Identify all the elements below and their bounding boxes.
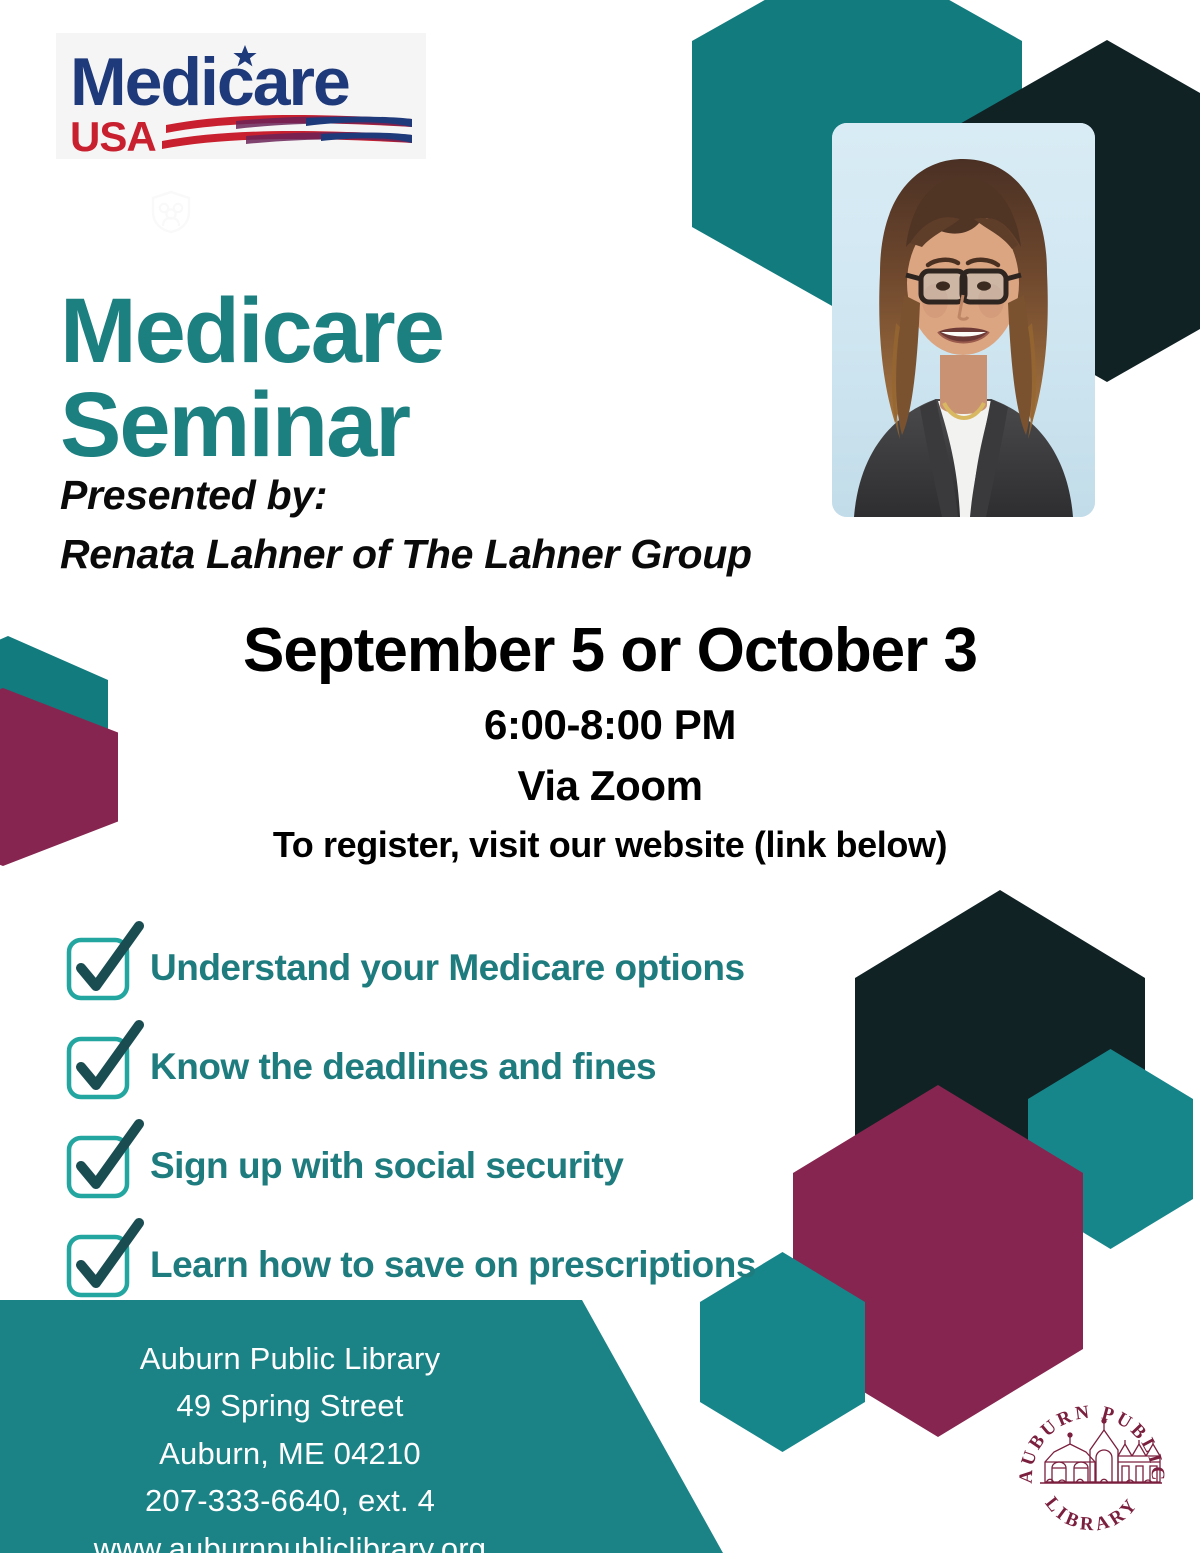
checklist-label: Understand your Medicare options <box>150 947 745 989</box>
page-title: Medicare Seminar <box>60 284 760 474</box>
checkbox-checked-icon <box>68 938 128 998</box>
event-time: 6:00-8:00 PM <box>130 701 1090 748</box>
library-phone: 207-333-6640, ext. 4 <box>0 1477 580 1524</box>
checkbox-checked-icon <box>68 1136 128 1196</box>
library-contact-info: Auburn Public Library 49 Spring Street A… <box>0 1335 580 1553</box>
list-item: Understand your Medicare options <box>68 918 828 1017</box>
medicare-usa-logo: Medicare USA <box>56 33 426 159</box>
checklist-label: Learn how to save on prescriptions <box>150 1244 756 1286</box>
event-platform: Via Zoom <box>130 762 1090 809</box>
list-item: Sign up with social security <box>68 1116 828 1215</box>
presenter-block: Presented by: Renata Lahner of The Lahne… <box>60 466 890 584</box>
title-line-1: Medicare <box>60 284 760 379</box>
seal-text-bottom: LIBRARY <box>1041 1493 1144 1535</box>
checklist-label: Know the deadlines and fines <box>150 1046 656 1088</box>
event-registration-note: To register, visit our website (link bel… <box>130 825 1090 865</box>
library-city-state-zip: Auburn, ME 04210 <box>0 1430 580 1477</box>
benefits-checklist: Understand your Medicare options Know th… <box>68 918 828 1314</box>
checkbox-checked-icon <box>68 1037 128 1097</box>
auburn-public-library-seal: AUBURN PUBLIC LIBRARY <box>1012 1390 1172 1550</box>
library-street: 49 Spring Street <box>0 1382 580 1429</box>
library-name: Auburn Public Library <box>0 1335 580 1382</box>
list-item: Know the deadlines and fines <box>68 1017 828 1116</box>
title-line-2: Seminar <box>60 378 760 473</box>
svg-text:USA: USA <box>70 113 156 159</box>
checklist-label: Sign up with social security <box>150 1145 623 1187</box>
medicare-seminar-poster: Medicare USA Medicare Seminar Presented … <box>0 0 1200 1553</box>
presented-by-label: Presented by: <box>60 466 890 525</box>
shield-people-icon <box>148 190 194 234</box>
event-details: September 5 or October 3 6:00-8:00 PM Vi… <box>130 618 1090 865</box>
list-item: Learn how to save on prescriptions <box>68 1215 828 1314</box>
library-website[interactable]: www.auburnpubliclibrary.org <box>0 1525 580 1553</box>
presenter-photo <box>832 123 1095 517</box>
presenter-name: Renata Lahner of The Lahner Group <box>60 525 890 584</box>
event-date: September 5 or October 3 <box>130 618 1090 685</box>
svg-text:Medicare: Medicare <box>70 44 349 120</box>
checkbox-checked-icon <box>68 1235 128 1295</box>
seal-text-top: AUBURN PUBLIC <box>1016 1402 1169 1484</box>
